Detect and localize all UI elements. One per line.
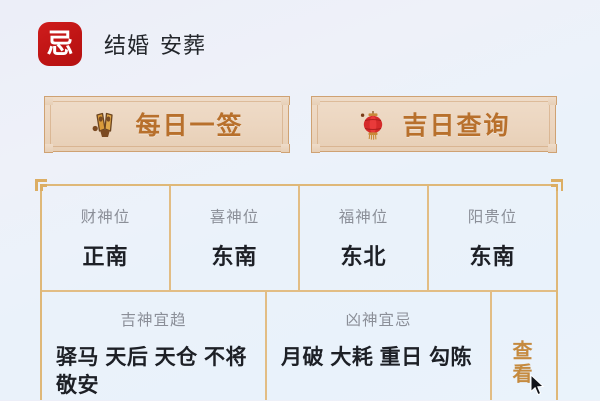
fortune-sticks-icon <box>89 107 123 141</box>
gods-value: 月破 大耗 重日 勾陈 <box>281 344 472 372</box>
taboo-tag-list: 结婚安葬 <box>104 28 216 60</box>
daily-fortune-label: 每日一签 <box>135 106 243 142</box>
gods-value: 驿马 天后 天仓 不将 敬安 <box>56 344 251 401</box>
corner-nub-icon <box>548 96 557 105</box>
gods-cell-inauspicious: 凶神宜忌 月破 大耗 重日 勾陈 <box>267 292 492 400</box>
taboo-badge: 忌 <box>38 22 82 66</box>
gods-label: 吉神宜趋 <box>120 308 186 330</box>
corner-nub-icon <box>311 96 320 105</box>
corner-nub-icon <box>44 96 53 105</box>
corner-nub-icon <box>548 144 557 153</box>
direction-label: 财神位 <box>81 205 131 227</box>
red-lantern-icon <box>356 107 390 141</box>
taboo-header: 忌 结婚安葬 <box>38 22 216 66</box>
direction-cell-joy: 喜神位 东南 <box>171 186 300 290</box>
direction-label: 阳贵位 <box>468 205 518 227</box>
direction-cell-fortune: 福神位 东北 <box>300 186 429 290</box>
direction-label: 喜神位 <box>210 205 260 227</box>
view-more-label: 查看 <box>510 340 530 386</box>
auspicious-day-query-button[interactable]: 吉日查询 <box>311 96 556 152</box>
taboo-tag: 安葬 <box>160 33 206 58</box>
corner-nub-icon <box>281 144 290 153</box>
action-button-row: 每日一签 吉日查询 <box>44 96 556 152</box>
direction-label: 福神位 <box>339 205 389 227</box>
direction-value: 东南 <box>211 239 257 271</box>
direction-value: 东北 <box>340 239 386 271</box>
gods-label: 凶神宜忌 <box>345 308 411 330</box>
corner-nub-icon <box>44 144 53 153</box>
daily-fortune-button[interactable]: 每日一签 <box>44 96 289 152</box>
almanac-table: 财神位 正南 喜神位 东南 福神位 东北 阳贵位 东南 吉神宜趋 驿马 天后 天… <box>40 184 558 400</box>
direction-cell-wealth: 财神位 正南 <box>42 186 171 290</box>
view-more-button[interactable]: 查看 <box>492 292 556 400</box>
corner-nub-icon <box>311 144 320 153</box>
direction-cell-yanggui: 阳贵位 东南 <box>429 186 556 290</box>
direction-value: 正南 <box>82 239 128 271</box>
direction-row: 财神位 正南 喜神位 东南 福神位 东北 阳贵位 东南 <box>42 186 556 290</box>
direction-value: 东南 <box>469 239 515 271</box>
auspicious-day-query-label: 吉日查询 <box>402 106 510 142</box>
gods-row: 吉神宜趋 驿马 天后 天仓 不将 敬安 凶神宜忌 月破 大耗 重日 勾陈 查看 <box>42 292 556 400</box>
taboo-tag: 结婚 <box>104 33 150 58</box>
corner-nub-icon <box>281 96 290 105</box>
gods-cell-auspicious: 吉神宜趋 驿马 天后 天仓 不将 敬安 <box>42 292 267 400</box>
